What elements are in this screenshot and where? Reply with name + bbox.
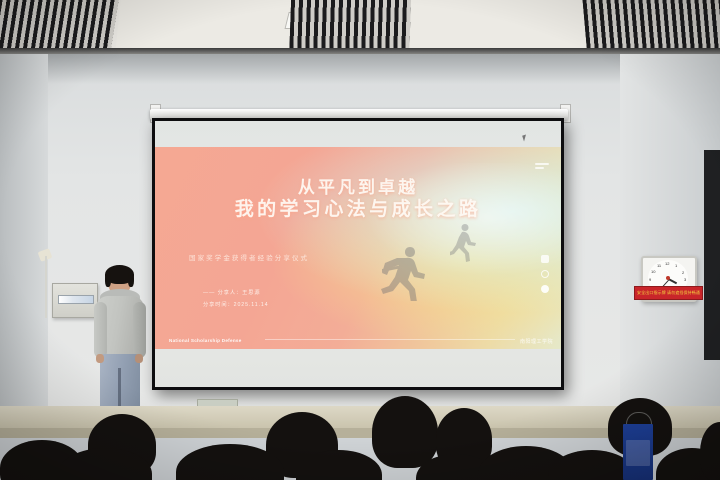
- slide-date: 分享时间：2025.11.14: [203, 301, 269, 308]
- projection-screen: 从平凡到卓越 我的学习心法与成长之路 国家奖学金获得者经验分享仪式 —— 分享人…: [152, 118, 564, 390]
- screen-surface: 从平凡到卓越 我的学习心法与成长之路 国家奖学金获得者经验分享仪式 —— 分享人…: [155, 121, 561, 387]
- clock-numeral: 10: [651, 269, 655, 274]
- red-warning-sign: 安全出口指示牌 请勿遮挡保持畅通: [634, 286, 703, 300]
- presenter-hand-right: [135, 354, 143, 363]
- slide-title-line2: 我的学习心法与成长之路: [155, 194, 561, 221]
- slide-speaker: —— 分享人：王思源: [203, 289, 261, 296]
- blue-shopping-bag: [623, 424, 653, 480]
- bag-label: [626, 440, 650, 466]
- right-doorway: [704, 150, 720, 360]
- slide-footer-left: National Scholarship Defense: [169, 338, 242, 343]
- left-wall: [0, 54, 48, 409]
- wall-shadow: [0, 54, 720, 84]
- slide-footer-rule: [265, 339, 515, 340]
- breaker-row: [58, 295, 94, 304]
- presentation-slide: 从平凡到卓越 我的学习心法与成长之路 国家奖学金获得者经验分享仪式 —— 分享人…: [155, 147, 561, 349]
- slide-subtitle: 国家奖学金获得者经验分享仪式: [189, 252, 309, 262]
- runner-silhouette-icon: [380, 243, 428, 301]
- clock-numeral: 11: [657, 263, 661, 268]
- clock-numeral: 12: [665, 261, 669, 266]
- slide-dot-decor-icon: [541, 255, 549, 300]
- clock-numeral: 2: [682, 270, 684, 275]
- audience-foreground: [0, 392, 720, 480]
- clock-numeral: 9: [649, 277, 651, 282]
- ceiling-panel: [404, 0, 591, 52]
- wall-conduit: [45, 256, 47, 318]
- slide-dash-decor-icon: [535, 163, 549, 171]
- red-sign-text: 安全出口指示牌 请勿遮挡保持畅通: [637, 290, 700, 296]
- audience-head: [700, 422, 720, 480]
- presenter: [92, 268, 148, 410]
- slide-footer-right: 南阳理工学院: [520, 338, 553, 345]
- runner-silhouette-icon: [450, 222, 476, 262]
- clock-numeral: 1: [675, 263, 677, 268]
- ceiling-panel: [115, 0, 295, 52]
- presenter-hair-side: [128, 272, 134, 287]
- presenter-arm-left: [94, 302, 107, 358]
- lecture-hall-photo: 从平凡到卓越 我的学习心法与成长之路 国家奖学金获得者经验分享仪式 —— 分享人…: [0, 0, 720, 480]
- audience-head: [372, 396, 438, 468]
- clock-numeral: 3: [684, 277, 686, 282]
- presenter-arm-right: [133, 302, 146, 358]
- presenter-hair-side: [105, 272, 111, 287]
- presenter-hand-left: [96, 354, 104, 363]
